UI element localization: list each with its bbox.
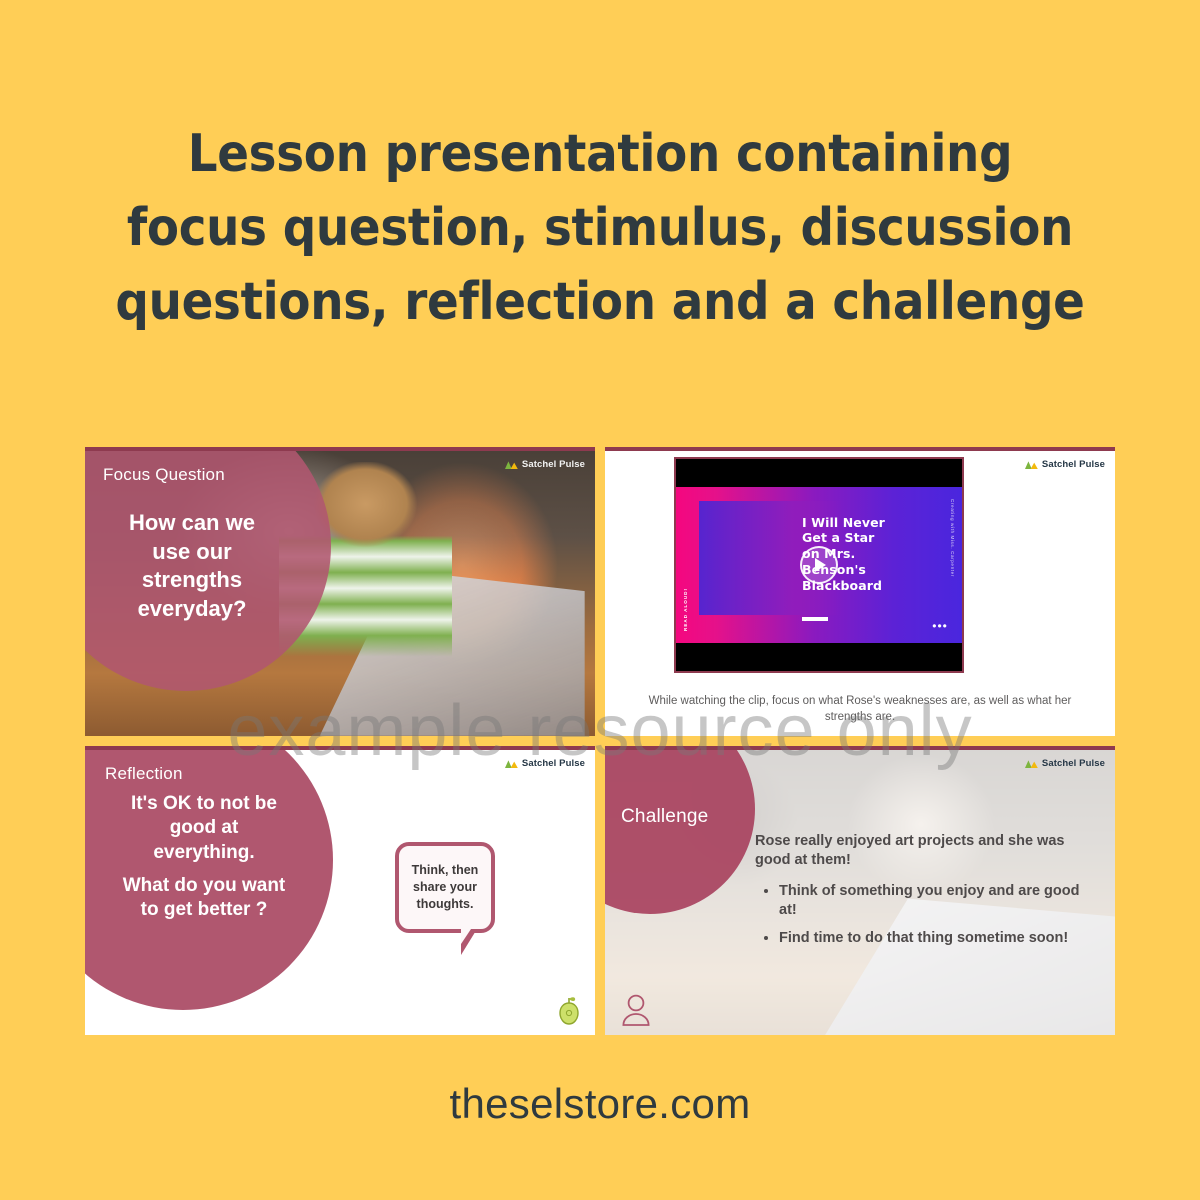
page-title-line-1: Lesson presentation containing	[70, 118, 1130, 192]
person-icon	[621, 993, 651, 1027]
challenge-bullet-list: Think of something you enjoy and are goo…	[755, 882, 1099, 949]
page-title-line-2: focus question, stimulus, discussion	[70, 192, 1130, 266]
pear-icon	[557, 995, 581, 1025]
video-badge-read-aloud: READ ALOUD!	[683, 588, 688, 631]
video-credit: Creating with Miss. Carpenter	[950, 499, 955, 577]
video-title-line-1: I Will Never	[802, 515, 885, 530]
slide-reflection[interactable]: Satchel Pulse Reflection It's OK to not …	[85, 746, 595, 1035]
satchel-pulse-logo: Satchel Pulse	[1025, 758, 1105, 769]
video-title-line-2: Get a Star	[802, 530, 874, 545]
brand-name: Satchel Pulse	[522, 758, 585, 769]
slide-kicker-focus-question: Focus Question	[103, 465, 225, 485]
reflection-statement-line-1: It's OK to not be	[131, 793, 277, 814]
challenge-lead: Rose really enjoyed art projects and she…	[755, 832, 1099, 870]
mountain-logo-icon	[505, 759, 518, 768]
challenge-content: Rose really enjoyed art projects and she…	[755, 832, 1099, 958]
reflection-text: It's OK to not be good at everything. Wh…	[95, 792, 313, 923]
page-title-line-3: questions, reflection and a challenge	[70, 266, 1130, 340]
brand-name: Satchel Pulse	[1042, 758, 1105, 769]
challenge-bullet-item: Find time to do that thing sometime soon…	[779, 929, 1099, 948]
video-title-underline	[802, 617, 828, 621]
focus-question-text: How can we use our strengths everyday?	[101, 509, 283, 623]
stimulus-caption: While watching the clip, focus on what R…	[636, 693, 1085, 726]
reflection-statement-line-3: everything.	[153, 842, 254, 863]
speech-bubble: Think, then share your thoughts.	[395, 842, 495, 933]
slide-kicker-reflection: Reflection	[105, 764, 183, 784]
satchel-pulse-logo: Satchel Pulse	[505, 459, 585, 470]
satchel-pulse-logo: Satchel Pulse	[1025, 459, 1105, 470]
reflection-question-line-1: What do you want	[123, 875, 286, 896]
footer-website: theselstore.com	[0, 1080, 1200, 1128]
speech-bubble-line-3: thoughts.	[417, 897, 474, 911]
reflection-question-line-2: to get better ?	[141, 899, 268, 920]
challenge-lead-line-1: Rose really enjoyed art projects and	[755, 833, 1004, 849]
slide-kicker-challenge: Challenge	[621, 806, 708, 828]
page-title: Lesson presentation containing focus que…	[0, 118, 1200, 339]
speech-bubble-line-2: share your	[413, 880, 477, 894]
focus-question-line-3: strengths	[142, 567, 242, 592]
slide-challenge[interactable]: Satchel Pulse Challenge Rose really enjo…	[605, 746, 1115, 1035]
mountain-logo-icon	[1025, 759, 1038, 768]
speech-bubble-line-1: Think, then	[412, 863, 479, 877]
slide-stimulus[interactable]: Satchel Pulse READ ALOUD! Creating with …	[605, 447, 1115, 736]
focus-question-line-1: How can we	[129, 510, 255, 535]
brand-name: Satchel Pulse	[1042, 459, 1105, 470]
video-thumbnail[interactable]: READ ALOUD! Creating with Miss. Carpente…	[676, 459, 962, 671]
challenge-bullet-item: Think of something you enjoy and are goo…	[779, 882, 1099, 920]
mountain-logo-icon	[505, 460, 518, 469]
brand-name: Satchel Pulse	[522, 459, 585, 470]
video-more-options-icon[interactable]: •••	[932, 624, 948, 629]
satchel-pulse-logo: Satchel Pulse	[505, 758, 585, 769]
play-icon[interactable]	[800, 546, 838, 584]
mountain-logo-icon	[1025, 460, 1038, 469]
focus-question-line-2: use our	[152, 539, 231, 564]
speech-bubble-tail-inner	[461, 929, 471, 944]
focus-question-line-4: everyday?	[138, 596, 247, 621]
slide-gallery: Satchel Pulse Focus Question How can we …	[85, 447, 1115, 1035]
reflection-statement-line-2: good at	[170, 817, 239, 838]
slide-focus-question[interactable]: Satchel Pulse Focus Question How can we …	[85, 447, 595, 736]
video-player[interactable]: READ ALOUD! Creating with Miss. Carpente…	[674, 457, 964, 673]
